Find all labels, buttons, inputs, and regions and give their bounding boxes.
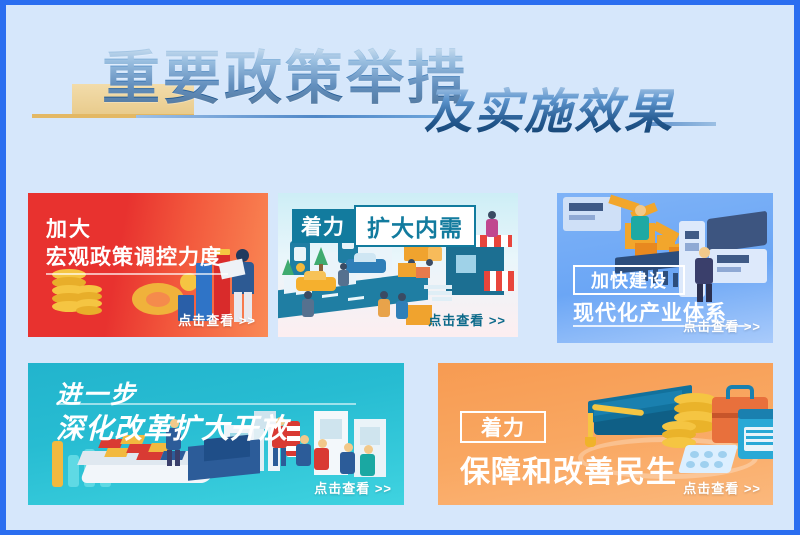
peoples-livelihood-line2: 保障和改善民生 xyxy=(460,447,677,491)
macro-policy-line2: 宏观政策调控力度 xyxy=(46,241,222,271)
card-modern-industry[interactable]: 加快建设 现代化产业体系 点击查看 >> xyxy=(557,193,773,343)
page-title: 重要政策举措 xyxy=(102,47,468,111)
page-container: 重要政策举措 及实施效果 xyxy=(6,5,794,530)
title-blue-rule xyxy=(136,115,436,118)
reform-opening-cta[interactable]: 点击查看 >> xyxy=(314,478,392,497)
macro-policy-cta[interactable]: 点击查看 >> xyxy=(178,310,256,329)
modern-industry-line1: 加快建设 xyxy=(573,265,685,295)
card-macro-policy[interactable]: 加大 宏观政策调控力度 点击查看 >> xyxy=(28,193,268,337)
card-expand-demand[interactable]: 着力 扩大内需 点击查看 >> xyxy=(278,193,518,337)
expand-demand-line1: 着力 xyxy=(292,209,354,243)
page-header: 重要政策举措 及实施效果 xyxy=(6,5,794,180)
card-reform-opening[interactable]: 进一步 深化改革扩大开放 点击查看 >> xyxy=(28,363,404,505)
page-subtitle: 及实施效果 xyxy=(424,87,674,139)
expand-demand-cta[interactable]: 点击查看 >> xyxy=(428,310,506,329)
reform-opening-underline xyxy=(56,403,356,405)
peoples-livelihood-line1: 着力 xyxy=(460,411,546,443)
modern-industry-cta[interactable]: 点击查看 >> xyxy=(683,316,761,335)
card-peoples-livelihood[interactable]: 着力 保障和改善民生 点击查看 >> xyxy=(438,363,773,505)
reform-opening-line1: 进一步 xyxy=(56,375,137,411)
reform-opening-line2: 深化改革扩大开放 xyxy=(56,407,288,447)
expand-demand-line2: 扩大内需 xyxy=(354,205,476,247)
peoples-livelihood-cta[interactable]: 点击查看 >> xyxy=(683,478,761,497)
macro-policy-underline xyxy=(46,273,228,275)
macro-policy-line1: 加大 xyxy=(46,213,92,243)
